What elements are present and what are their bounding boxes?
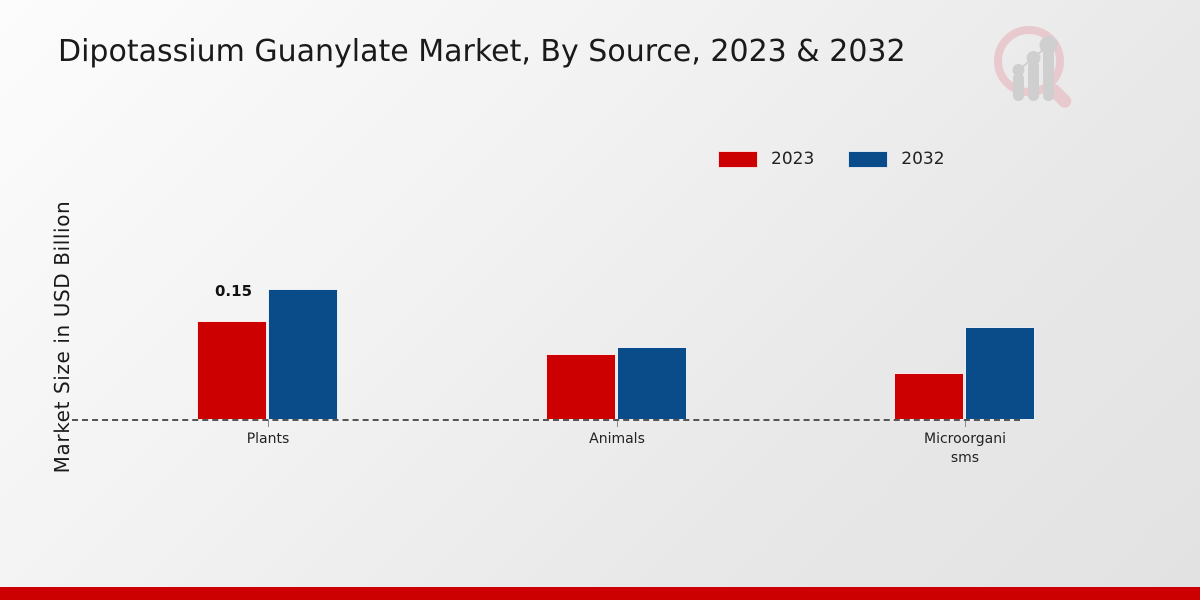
axis-tick-animals [617,420,618,427]
page-title: Dipotassium Guanylate Market, By Source,… [58,34,906,69]
category-label-plants: Plants [216,430,320,449]
bar-plants-2032[interactable] [268,289,338,420]
bar-value-plants-2023: 0.15 [215,282,252,300]
legend-swatch-2023 [718,151,758,168]
y-axis-title: Market Size in USD Billion [50,172,74,502]
bar-microorganisms-2023[interactable] [894,373,964,420]
chart-canvas: Dipotassium Guanylate Market, By Source,… [0,0,1200,600]
category-label-animals: Animals [565,430,669,449]
chart-legend: 2023 2032 [718,149,945,169]
legend-swatch-2032 [848,151,888,168]
bar-plants-2023[interactable] [197,321,267,420]
bar-animals-2023[interactable] [546,354,616,420]
category-label-microorganisms-line1: Microorgani [913,430,1017,449]
magnifier-bar-chart-logo [985,18,1085,118]
legend-item-2023[interactable]: 2023 [718,149,814,169]
footer-band [0,587,1200,600]
legend-label-2032: 2032 [901,149,944,169]
bar-animals-2032[interactable] [617,347,687,420]
x-axis-baseline [72,419,1020,421]
legend-item-2032[interactable]: 2032 [848,149,944,169]
plot-area: 0.15 Plants Animals Microorgani sms [72,180,1020,420]
legend-label-2023: 2023 [771,149,814,169]
category-label-animals-line1: Animals [565,430,669,449]
bar-microorganisms-2032[interactable] [965,327,1035,420]
category-label-microorganisms: Microorgani sms [913,430,1017,468]
category-label-microorganisms-line2: sms [913,449,1017,468]
axis-tick-microorganisms [965,420,966,427]
axis-tick-plants [268,420,269,427]
category-label-plants-line1: Plants [216,430,320,449]
